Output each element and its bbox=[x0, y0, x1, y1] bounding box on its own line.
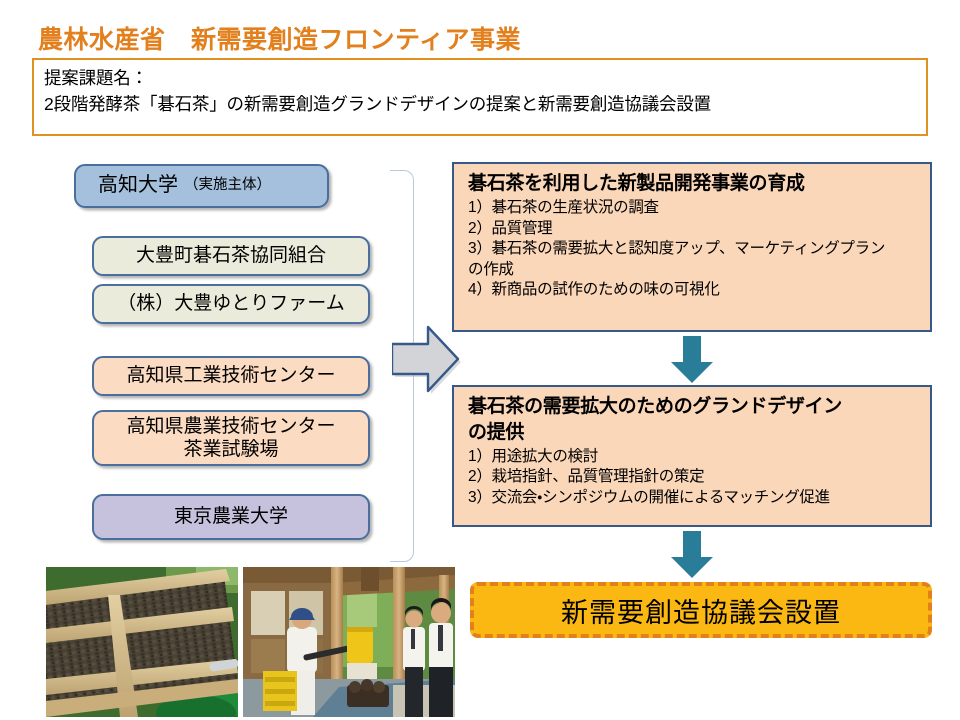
organization-list: 高知大学 （実施主体） 大豊町碁石茶協同組合 （株）大豊ゆとりファーム 高知県工… bbox=[52, 164, 392, 564]
down-block-arrow-icon bbox=[670, 336, 714, 384]
proposal-label: 提案課題名： bbox=[44, 66, 916, 92]
goal-item-continuation: の作成 bbox=[468, 260, 918, 281]
page-title: 農林水産省 新需要創造フロンティア事業 bbox=[38, 20, 521, 56]
goal-heading-line2: の提供 bbox=[468, 421, 918, 445]
org-label-line1: 高知県農業技術センター bbox=[126, 415, 335, 438]
goal-item: 1）碁石茶の生産状況の調査 bbox=[468, 198, 918, 219]
goal-item: 1）用途拡大の検討 bbox=[468, 447, 918, 468]
photo-tea-drying-racks bbox=[46, 567, 238, 717]
goal-panel-grand-design: 碁石茶の需要拡大のためのグランドデザイン の提供 1）用途拡大の検討 2）栽培指… bbox=[452, 385, 932, 527]
org-lead-role: （実施主体） bbox=[184, 177, 271, 194]
org-box-otoyo-yutori-farm[interactable]: （株）大豊ゆとりファーム bbox=[92, 284, 370, 324]
org-box-tokyo-univ-agriculture[interactable]: 東京農業大学 bbox=[92, 494, 370, 540]
goal-item: 3）交流会・シンポジウムの開催によるマッチング促進 bbox=[468, 488, 918, 509]
council-establishment-box[interactable]: 新需要創造協議会設置 bbox=[470, 582, 932, 638]
org-box-goishicha-cooperative[interactable]: 大豊町碁石茶協同組合 bbox=[92, 236, 370, 276]
goal-item: 4）新商品の試作のための味の可視化 bbox=[468, 280, 918, 301]
org-label: 高知県工業技術センター bbox=[126, 365, 335, 387]
photo-workshop-visit bbox=[243, 567, 455, 717]
org-box-lead[interactable]: 高知大学 （実施主体） bbox=[74, 164, 329, 208]
goal-item: 2）栽培指針、品質管理指針の策定 bbox=[468, 467, 918, 488]
org-box-agri-tech-center-tea-station[interactable]: 高知県農業技術センター 茶業試験場 bbox=[92, 410, 370, 466]
proposal-subject: 2段階発酵茶「碁石茶」の新需要創造グランドデザインの提案と新需要創造協議会設置 bbox=[44, 92, 916, 118]
org-label: 大豊町碁石茶協同組合 bbox=[136, 245, 326, 267]
org-lead-name: 高知大学 bbox=[98, 174, 178, 198]
org-label: （株）大豊ゆとりファーム bbox=[117, 293, 344, 315]
org-label: 東京農業大学 bbox=[174, 506, 288, 528]
goal-heading-line1: 碁石茶の需要拡大のためのグランドデザイン bbox=[468, 395, 918, 419]
down-block-arrow-icon bbox=[670, 531, 714, 579]
council-label: 新需要創造協議会設置 bbox=[561, 591, 841, 630]
org-box-industrial-tech-center[interactable]: 高知県工業技術センター bbox=[92, 356, 370, 396]
goal-heading: 碁石茶を利用した新製品開発事業の育成 bbox=[468, 172, 918, 196]
goal-item: 2）品質管理 bbox=[468, 219, 918, 240]
goal-item: 3）碁石茶の需要拡大と認知度アップ、マーケティングプラン bbox=[468, 239, 918, 260]
goal-panel-product-development: 碁石茶を利用した新製品開発事業の育成 1）碁石茶の生産状況の調査 2）品質管理 … bbox=[452, 162, 932, 332]
org-label-line2: 茶業試験場 bbox=[183, 438, 278, 461]
proposal-subject-box: 提案課題名： 2段階発酵茶「碁石茶」の新需要創造グランドデザインの提案と新需要創… bbox=[32, 58, 928, 136]
